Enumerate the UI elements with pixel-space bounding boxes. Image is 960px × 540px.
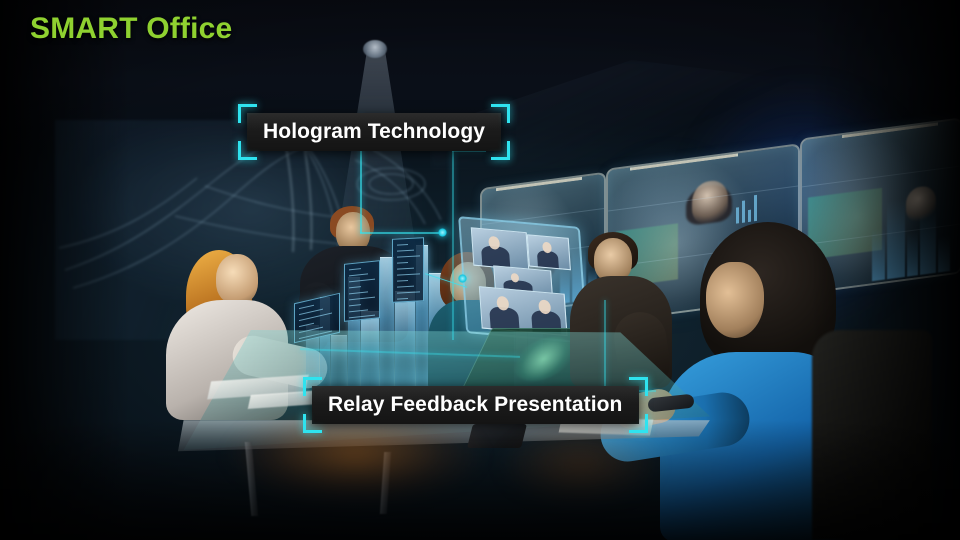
corner-bracket-bl-icon [303,414,322,433]
spotlight-icon [363,40,387,58]
connector-node-icon [458,274,467,283]
corner-bracket-tl-icon [303,377,322,396]
relay-screen[interactable] [458,216,588,344]
page-title: SMART Office [30,12,232,46]
corner-bracket-tr-icon [491,104,510,123]
callout-label-hologram: Hologram Technology [263,120,485,144]
connector-line-horizontal [360,232,444,234]
connector-line-vertical [604,300,606,392]
callout-hologram-technology[interactable]: Hologram Technology [247,113,501,151]
corner-bracket-br-icon [491,141,510,160]
wall-screen-label-istanbul: Istanbul [519,172,560,184]
video-call-tile[interactable] [527,234,571,270]
corner-bracket-tl-icon [238,104,257,123]
corner-bracket-tr-icon [629,377,648,396]
hologram-data-panel[interactable] [392,237,424,303]
connector-line-vertical [452,150,454,340]
hologram-data-panel[interactable] [344,260,380,322]
corner-bracket-br-icon [629,414,648,433]
smart-office-scene: Istanbul New York [0,0,960,540]
connector-node-icon [438,228,447,237]
warm-underlight-secondary [470,410,690,520]
video-call-tile[interactable] [471,227,530,270]
callout-label-relay: Relay Feedback Presentation [328,393,623,417]
callout-relay-feedback-presentation[interactable]: Relay Feedback Presentation [312,386,639,424]
office-chair [812,330,932,540]
wall-screen-label-newyork: New York [657,143,710,162]
callout-bar[interactable]: Hologram Technology [247,113,501,151]
corner-bracket-bl-icon [238,141,257,160]
callout-bar[interactable]: Relay Feedback Presentation [312,386,639,424]
